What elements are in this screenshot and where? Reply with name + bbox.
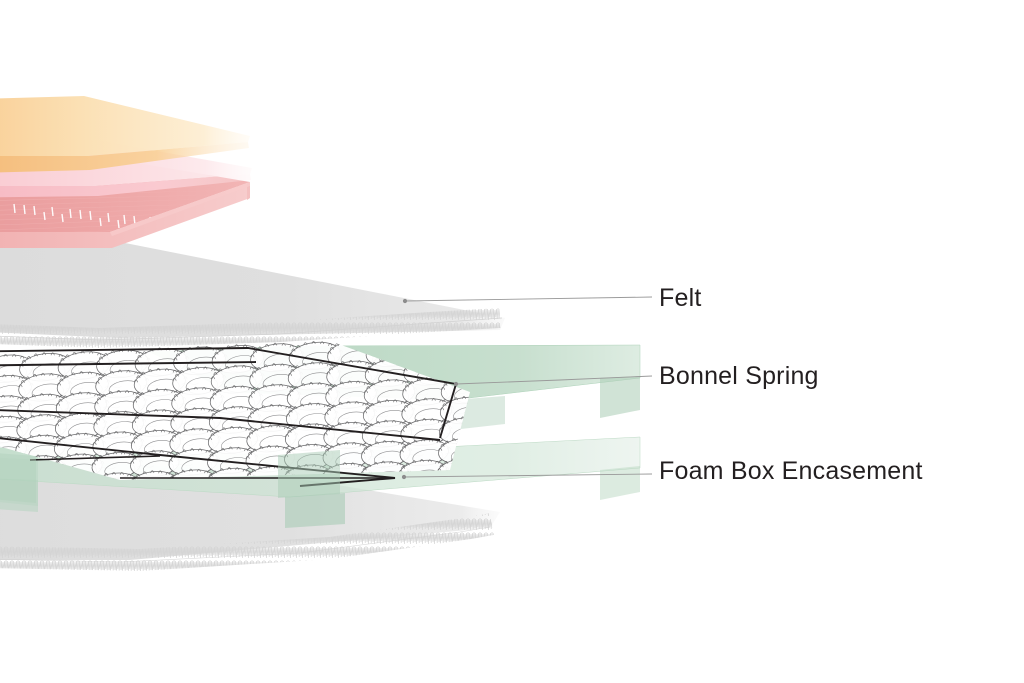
leader-line-felt [405, 297, 652, 301]
leader-dot-felt [403, 299, 407, 303]
mattress-exploded-diagram [0, 0, 1024, 683]
label-felt: Felt [659, 286, 701, 311]
leader-dot-bonnel [454, 382, 458, 386]
label-bonnel-spring: Bonnel Spring [659, 364, 819, 389]
diagram-canvas: Felt Bonnel Spring Foam Box Encasement [0, 0, 1024, 683]
leader-dot-foam [402, 475, 406, 479]
layer-felt-upper [0, 236, 505, 340]
label-foam-box-encasement: Foam Box Encasement [659, 459, 923, 484]
